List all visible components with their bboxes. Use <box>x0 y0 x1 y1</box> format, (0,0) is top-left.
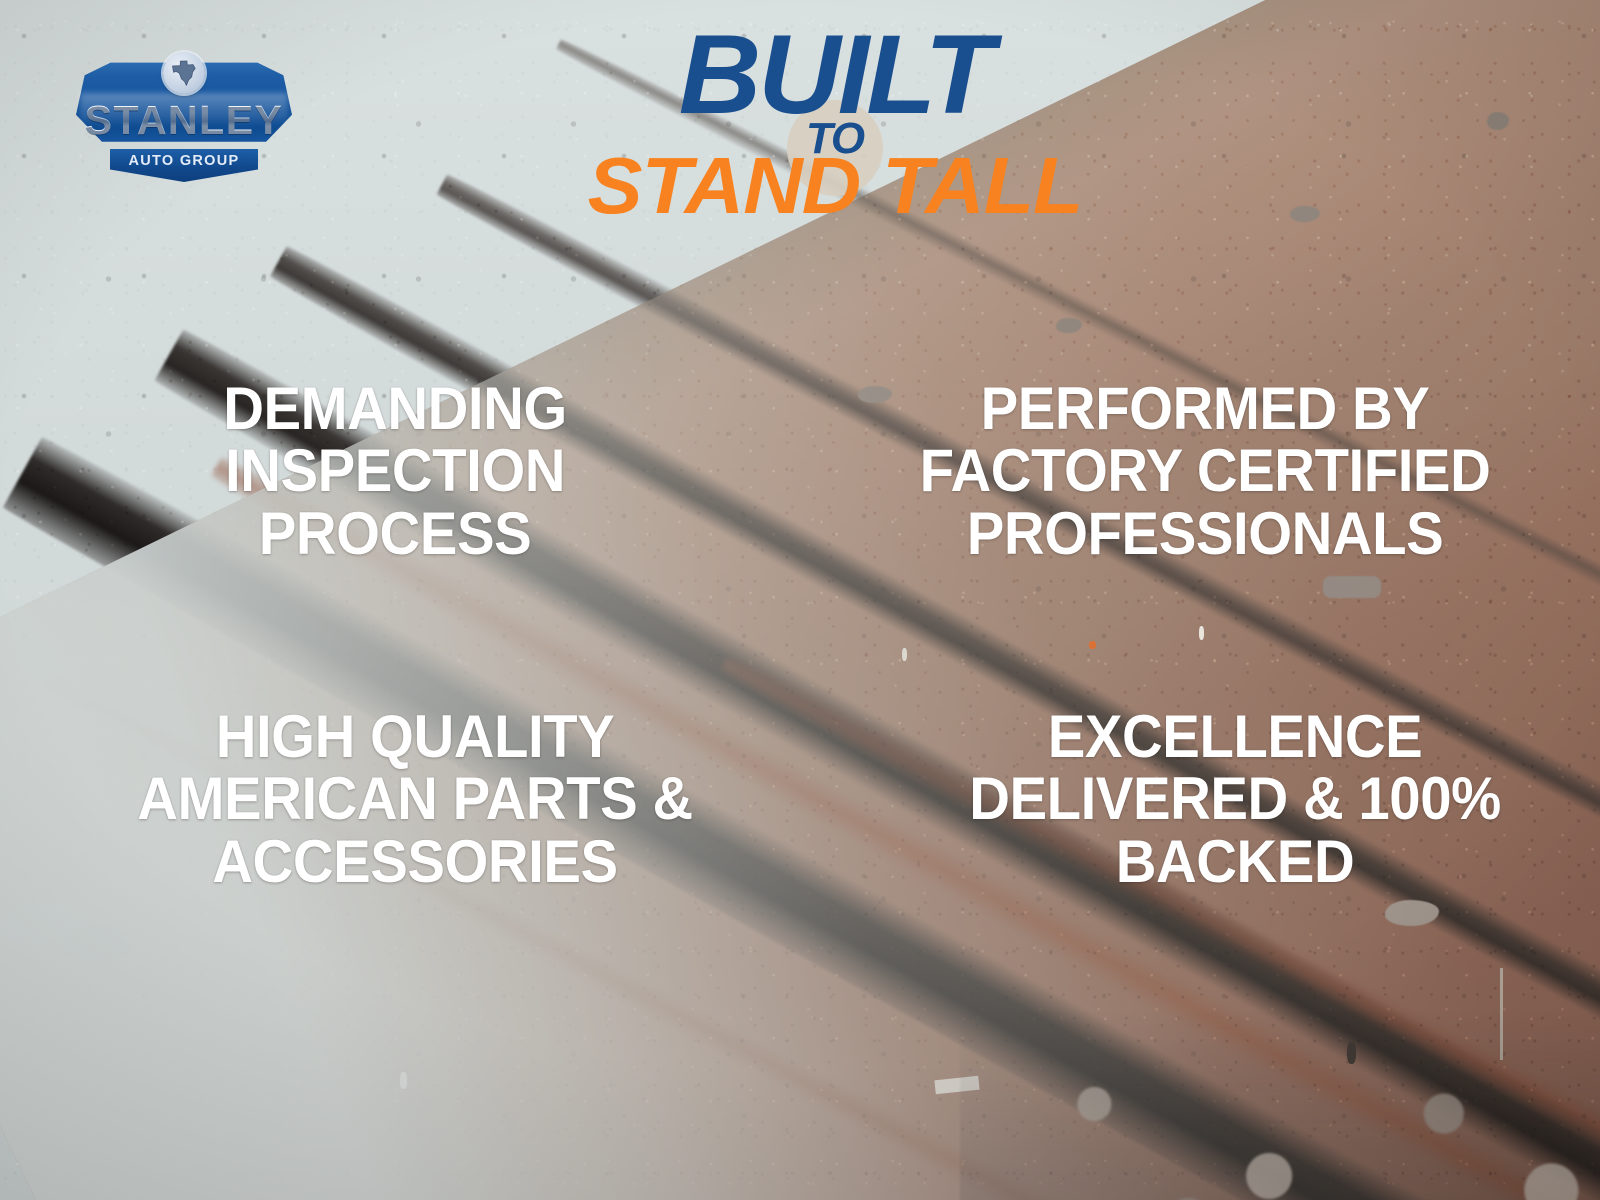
stanley-auto-group-logo[interactable]: STANLEY AUTO GROUP <box>70 47 298 177</box>
claim-performed-by-factory-certified-professionals: PERFORMED BY FACTORY CERTIFIED PROFESSIO… <box>900 378 1511 565</box>
texas-outline-icon <box>171 59 197 92</box>
logo-wordmark: STANLEY <box>70 97 298 144</box>
claim-demanding-inspection-process: DEMANDING INSPECTION PROCESS <box>160 378 630 565</box>
promo-banner: STANLEY AUTO GROUP BUILT TO STAND TALL D… <box>0 0 1600 1200</box>
campaign-line-stand-tall: STAND TALL <box>567 146 1103 226</box>
built-to-stand-tall-logo[interactable]: BUILT TO STAND TALL <box>575 18 1095 223</box>
logo-subtitle: AUTO GROUP <box>110 153 258 169</box>
claim-high-quality-american-parts-accessories: HIGH QUALITY AMERICAN PARTS & ACCESSORIE… <box>105 706 725 893</box>
claim-excellence-delivered-100-backed: EXCELLENCE DELIVERED & 100% BACKED <box>953 706 1517 893</box>
